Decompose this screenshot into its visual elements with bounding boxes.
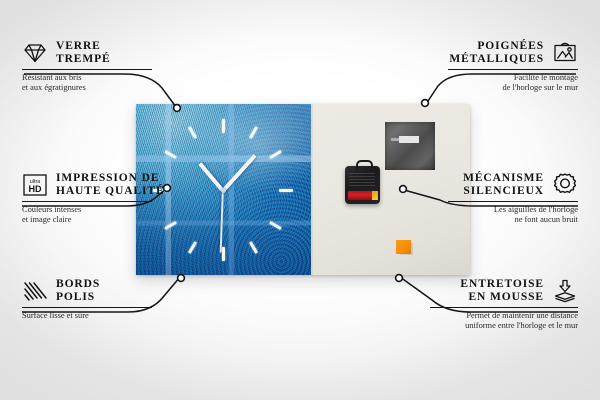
foam-spacer [396,240,411,254]
clock-back-panel [311,104,470,275]
feature-title: IMPRESSION DE HAUTE QUALITÉ [56,172,165,198]
quartz-mechanism [345,166,380,204]
hour-marker [249,126,258,139]
feature-verre-trempe: VERRE TREMPÉ Résistant aux bris et aux é… [22,40,152,93]
battery [348,191,377,200]
metal-hanger-plate [385,122,435,170]
minute-hand [222,154,257,192]
feature-poignees-metalliques: POIGNÉES MÉTALLIQUES Facilite le montage [448,40,578,93]
product-photo [136,104,470,275]
hour-hand [198,162,224,192]
feature-description: Résistant aux bris et aux égratignures [22,73,152,93]
feature-entretoise-en-mousse: ENTRETOISE EN MOUSSE Permet de maintenir… [430,278,578,331]
feature-description: Les aiguilles de l'horloge ne font aucun… [448,205,578,225]
feature-header: ENTRETOISE EN MOUSSE [430,278,578,304]
feature-rule [22,201,152,202]
hour-marker [164,221,177,230]
polished-edges-icon [22,278,48,304]
feature-rule [22,69,152,70]
feature-title: POIGNÉES MÉTALLIQUES [449,40,544,66]
feature-description: Surface lisse et sûre [22,311,152,321]
mechanism-label [349,173,375,186]
hour-marker [249,241,258,254]
hour-marker [269,150,282,159]
feature-header: ultra HD IMPRESSION DE HAUTE QUALITÉ [22,172,152,198]
hour-marker [164,150,177,159]
feature-header: VERRE TREMPÉ [22,40,152,66]
ultra-hd-icon: ultra HD [22,172,48,198]
second-hand [220,191,224,253]
feature-rule [22,307,152,308]
foam-spacer-icon [552,278,578,304]
feature-title: MÉCANISME SILENCIEUX [463,172,544,198]
hour-marker [222,247,225,261]
hour-marker [188,126,197,139]
hour-marker [269,221,282,230]
hanger-slot [399,136,419,143]
feature-mecanisme-silencieux: MÉCANISME SILENCIEUX Les aiguilles de l'… [448,172,578,225]
feature-impression-haute-qualite: ultra HD IMPRESSION DE HAUTE QUALITÉ Cou… [22,172,152,225]
diamond-icon [22,40,48,66]
hour-marker [222,119,225,133]
feature-description: Permet de maintenir une distance uniform… [430,311,578,331]
svg-text:HD: HD [29,184,42,194]
hanger-loop [356,160,373,170]
feature-title: VERRE TREMPÉ [56,40,111,66]
feature-bords-polis: BORDS POLIS Surface lisse et sûre [22,278,152,321]
picture-hanger-icon [552,40,578,66]
infographic-canvas: VERRE TREMPÉ Résistant aux bris et aux é… [0,0,600,400]
feature-rule [448,69,578,70]
gear-icon [552,172,578,198]
anchor-dot-entretoise [396,275,403,282]
feature-title: ENTRETOISE EN MOUSSE [460,278,544,304]
hour-marker [279,189,293,192]
feature-description: Facilite le montage de l'horloge sur le … [448,73,578,93]
feature-header: BORDS POLIS [22,278,152,304]
anchor-dot-bords-polis [178,275,185,282]
feature-description: Couleurs intenses et image claire [22,205,152,225]
hour-marker [188,241,197,254]
feature-rule [448,201,578,202]
feature-title: BORDS POLIS [56,278,100,304]
feature-header: MÉCANISME SILENCIEUX [448,172,578,198]
hand-center-cap [221,188,226,193]
feature-rule [430,307,578,308]
feature-header: POIGNÉES MÉTALLIQUES [448,40,578,66]
